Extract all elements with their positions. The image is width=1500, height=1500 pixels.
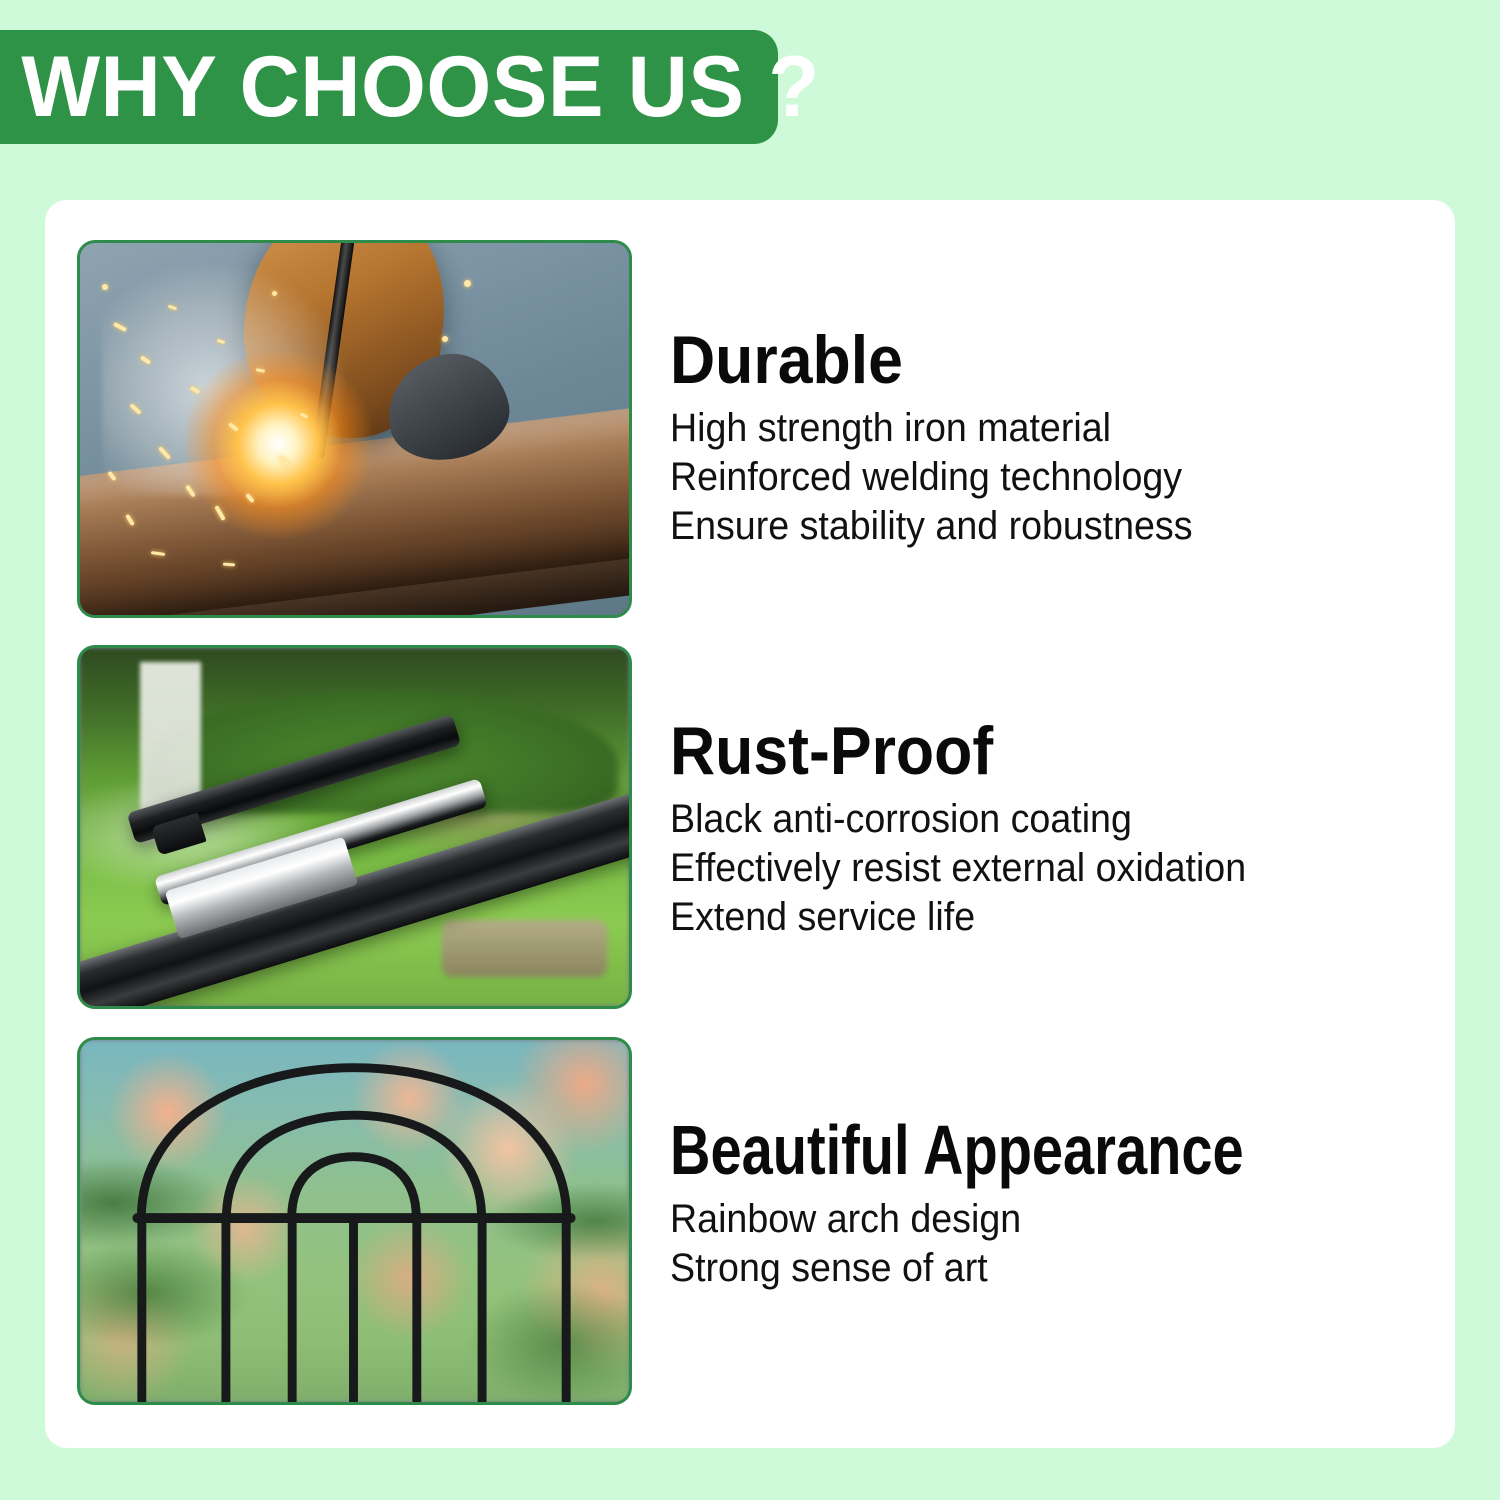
features-card: Durable High strength iron material Rein… — [45, 200, 1455, 1448]
feature-image-rust-proof — [77, 645, 632, 1009]
feature-bullet: Ensure stability and robustness — [670, 502, 1422, 551]
feature-bullets: Rainbow arch design Strong sense of art — [670, 1195, 1470, 1293]
feature-bullet: Rainbow arch design — [670, 1195, 1422, 1244]
feature-bullet: Reinforced welding technology — [670, 453, 1422, 502]
header-banner: WHY CHOOSE US ? — [0, 30, 778, 144]
welding-sparks-photo — [80, 243, 629, 615]
feature-image-beautiful-appearance — [77, 1037, 632, 1405]
feature-text-rust-proof: Rust-Proof Black anti-corrosion coating … — [670, 717, 1470, 941]
welding-sparks — [80, 243, 629, 615]
feature-row-beautiful-appearance: Beautiful Appearance Rainbow arch design… — [45, 1037, 1455, 1405]
arch-fence-graphic — [80, 1040, 629, 1402]
feature-image-durable — [77, 240, 632, 618]
feature-bullet: Strong sense of art — [670, 1244, 1422, 1293]
black-coated-rods-photo — [80, 648, 629, 1006]
feature-row-durable: Durable High strength iron material Rein… — [45, 240, 1455, 618]
feature-bullet: Black anti-corrosion coating — [670, 795, 1422, 844]
feature-bullet: Effectively resist external oxidation — [670, 844, 1422, 893]
feature-heading: Durable — [670, 326, 1406, 394]
feature-bullet: High strength iron material — [670, 404, 1422, 453]
feature-heading: Rust-Proof — [670, 717, 1406, 785]
page-title: WHY CHOOSE US ? — [0, 44, 820, 130]
garden-bench — [442, 920, 607, 977]
feature-bullets: High strength iron material Reinforced w… — [670, 404, 1470, 550]
feature-bullet: Extend service life — [670, 893, 1422, 942]
feature-row-rust-proof: Rust-Proof Black anti-corrosion coating … — [45, 645, 1455, 1009]
feature-text-beautiful-appearance: Beautiful Appearance Rainbow arch design… — [670, 1115, 1470, 1293]
feature-text-durable: Durable High strength iron material Rein… — [670, 326, 1470, 550]
arch-fence-roses-photo — [80, 1040, 629, 1402]
feature-bullets: Black anti-corrosion coating Effectively… — [670, 795, 1470, 941]
feature-heading: Beautiful Appearance — [670, 1115, 1310, 1185]
